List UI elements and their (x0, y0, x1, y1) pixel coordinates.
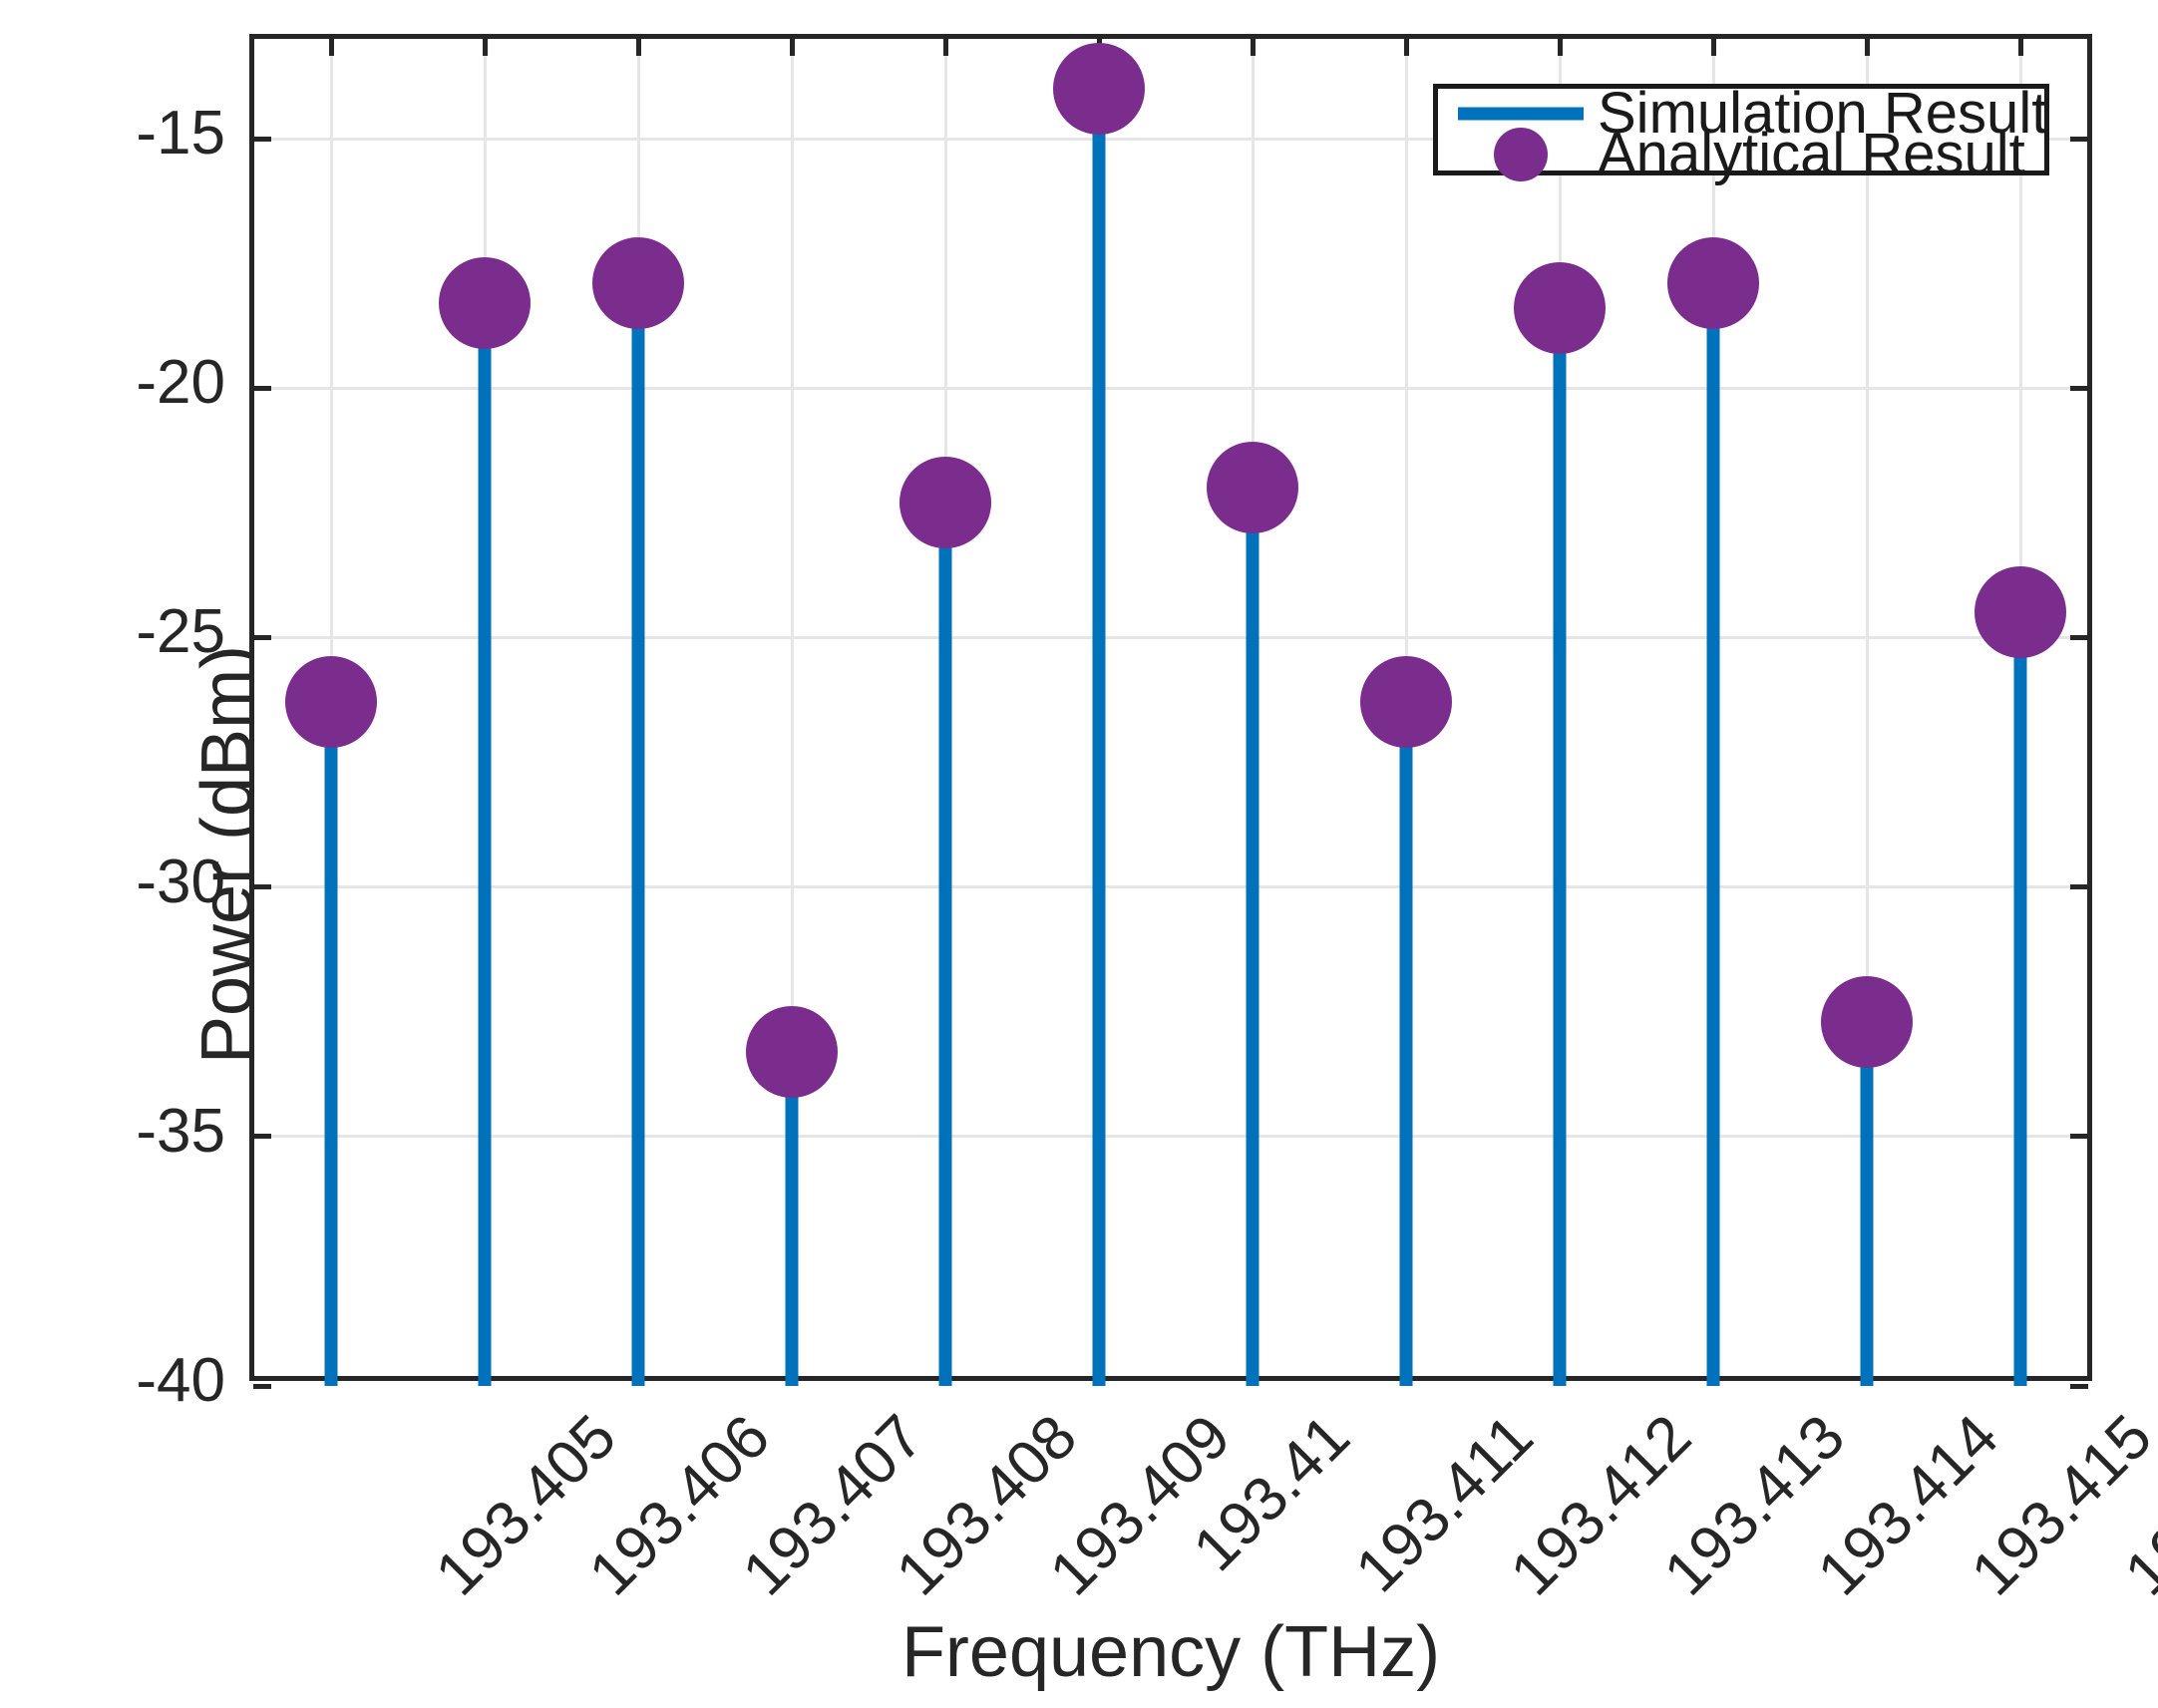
y-axis-tick-right (2070, 1134, 2088, 1139)
legend-label-analytical-result: Analytical Result (1598, 126, 2025, 183)
x-axis-tick-top (1251, 38, 1256, 56)
stem-line (2014, 642, 2027, 1386)
stem-line (1093, 114, 1106, 1386)
x-axis-tick-top (1711, 38, 1716, 56)
data-point-marker (1975, 566, 2066, 658)
y-axis-tick (253, 386, 271, 391)
legend[interactable]: Simulation Result Analytical Result (1433, 84, 2049, 175)
stem-line (1554, 338, 1567, 1386)
data-point-marker (1667, 237, 1759, 329)
x-axis-tick-top (329, 38, 334, 56)
data-point-marker (1821, 976, 1913, 1068)
gridline-horizontal (254, 1135, 2087, 1138)
y-axis-tick (253, 1384, 271, 1389)
legend-swatch-analytical-result (1438, 134, 1598, 174)
stem-line (786, 1082, 799, 1386)
stem-line (939, 532, 952, 1386)
y-axis-tick-label: -15 (136, 103, 225, 165)
data-point-marker (1360, 656, 1452, 748)
plot-area (249, 34, 2092, 1381)
stem-line (1247, 522, 1259, 1386)
data-point-marker (439, 257, 531, 349)
x-axis-tick-top (1865, 38, 1870, 56)
y-axis-tick-label: -35 (136, 1101, 225, 1163)
line-swatch-icon (1458, 107, 1584, 120)
y-axis-tick-right (2070, 1384, 2088, 1389)
x-axis-tick-top (483, 38, 488, 56)
data-point-marker (1053, 43, 1145, 135)
y-axis-tick (253, 1134, 271, 1139)
y-axis-tick-label: -30 (136, 852, 225, 913)
stem-line (1400, 728, 1413, 1386)
data-point-marker (285, 656, 377, 748)
y-axis-tick-right (2070, 386, 2088, 391)
gridline-horizontal (254, 387, 2087, 390)
y-axis-tick-label: -40 (136, 1350, 225, 1412)
figure-canvas: Power (dBm) -15-20-25-30-35-40 193.40519… (0, 0, 2158, 1708)
y-axis-tick (253, 635, 271, 640)
data-point-marker (592, 237, 684, 329)
stem-line (1861, 1042, 1874, 1386)
y-axis-tick-label: -25 (136, 601, 225, 663)
x-axis-tick-top (943, 38, 948, 56)
y-axis-tick (253, 884, 271, 889)
data-point-marker (1207, 442, 1298, 533)
x-axis-tick-top (1404, 38, 1409, 56)
gridline-horizontal (254, 885, 2087, 888)
x-axis-tick-top (1558, 38, 1563, 56)
stem-line (325, 728, 338, 1386)
stem-line (1707, 313, 1720, 1386)
y-axis-tick-right (2070, 635, 2088, 640)
plot-inner (254, 39, 2087, 1376)
data-point-marker (746, 1006, 838, 1098)
y-axis-tick-right (2070, 137, 2088, 142)
gridline-horizontal (254, 636, 2087, 639)
stem-line (479, 333, 492, 1386)
legend-entry-analytical-result[interactable]: Analytical Result (1438, 134, 2044, 174)
x-axis-tick-top (636, 38, 641, 56)
y-axis-tick-label: -20 (136, 352, 225, 414)
circle-marker-icon (1494, 128, 1548, 181)
data-point-marker (1514, 262, 1606, 354)
x-axis-title: Frequency (THz) (249, 1611, 2092, 1693)
stem-line (632, 313, 645, 1386)
y-axis-tick-right (2070, 884, 2088, 889)
x-axis-tick-top (2018, 38, 2023, 56)
x-axis-tick-top (790, 38, 795, 56)
y-axis-tick (253, 137, 271, 142)
data-point-marker (899, 457, 991, 548)
